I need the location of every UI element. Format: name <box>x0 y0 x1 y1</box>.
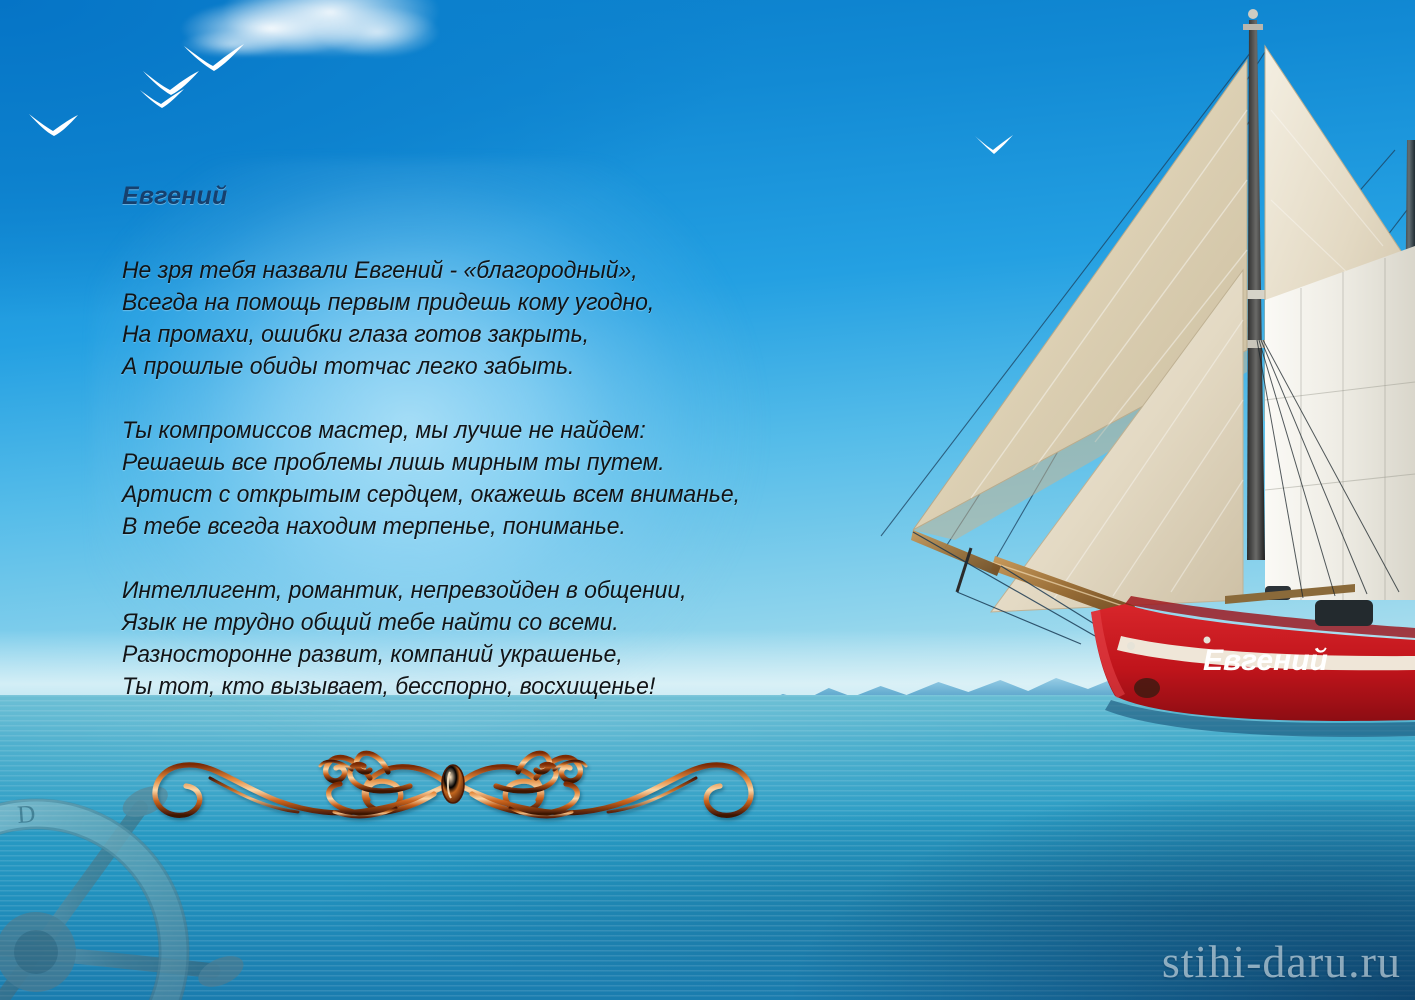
ship-hull-name: Евгений <box>1203 644 1328 677</box>
site-watermark: stihi-daru.ru <box>1162 935 1401 988</box>
poem-line: Ты компромиссов мастер, мы лучше не найд… <box>122 415 791 447</box>
seagull-icon <box>28 112 80 142</box>
poem-line: Решаешь все проблемы лишь мирным ты путе… <box>122 447 791 479</box>
poem-line: В тебе всегда находим терпенье, понимань… <box>122 511 791 543</box>
poem-stanza: Ты компромиссов мастер, мы лучше не найд… <box>122 415 822 543</box>
poem-title: Евгений <box>122 182 822 211</box>
poem-line: Всегда на помощь первым придешь кому уго… <box>122 287 791 319</box>
poem-line: Язык не трудно общий тебе найти со всеми… <box>122 607 791 639</box>
poem-line: Не зря тебя назвали Евгений - «благородн… <box>122 255 791 287</box>
poem-block: Евгений Не зря тебя назвали Евгений - «б… <box>122 182 822 703</box>
poem-stanza: Не зря тебя назвали Евгений - «благородн… <box>122 255 822 383</box>
seagull-icon <box>139 87 185 113</box>
greeting-card: Евгений Евгений Не зря тебя назвали Евге… <box>0 0 1415 1000</box>
poem-line: На промахи, ошибки глаза готов закрыть, <box>122 319 791 351</box>
poem-line: Интеллигент, романтик, непревзойден в об… <box>122 575 791 607</box>
sailing-ship-illustration: Евгений <box>795 0 1415 760</box>
poem-line: Артист с открытым сердцем, окажешь всем … <box>122 479 791 511</box>
seagull-icon <box>183 42 245 78</box>
poem-line: А прошлые обиды тотчас легко забыть. <box>122 351 791 383</box>
poem-line: Ты тот, кто вызывает, бесспорно, восхище… <box>122 671 791 703</box>
poem-stanza: Интеллигент, романтик, непревзойден в об… <box>122 575 822 703</box>
ornamental-flourish-divider-icon <box>148 742 758 828</box>
wheel-letter: D <box>16 801 36 829</box>
poem-line: Разносторонне развит, компаний украшенье… <box>122 639 791 671</box>
